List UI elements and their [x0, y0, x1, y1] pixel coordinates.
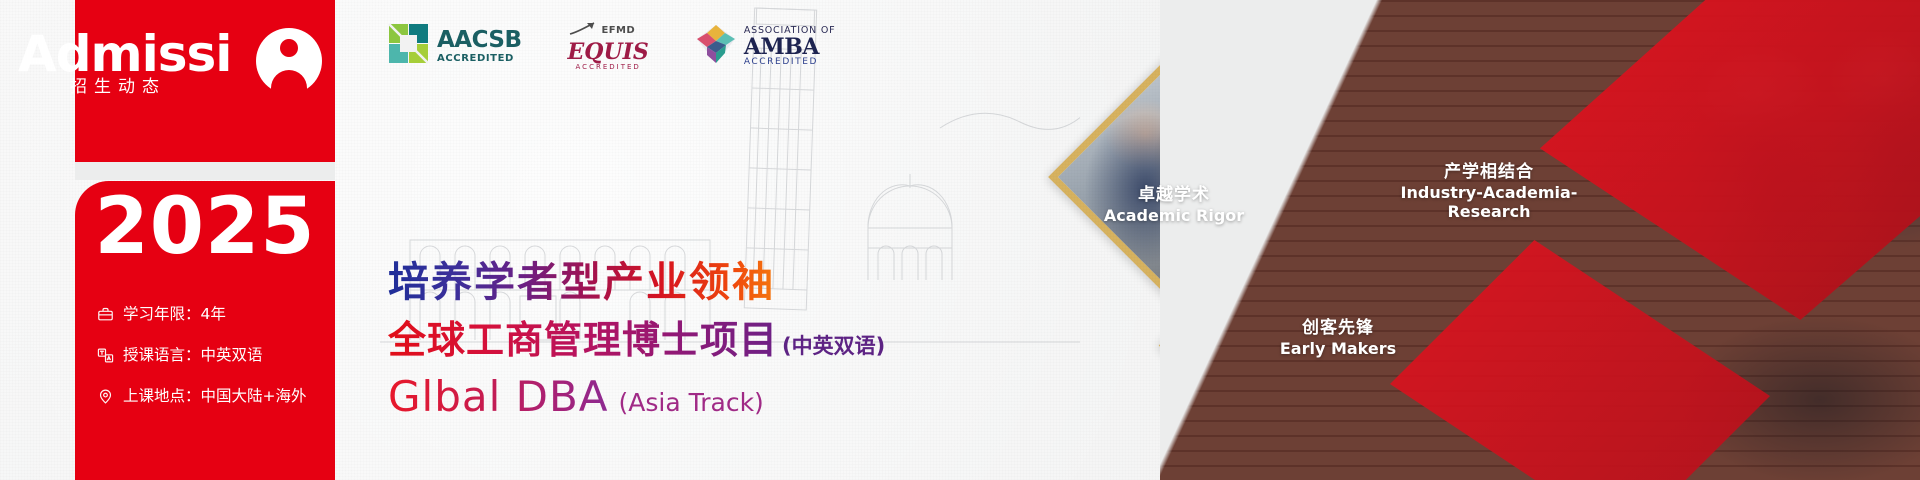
feature-label-academic: 卓越学术 Academic Rigor [1086, 185, 1262, 226]
feature-label-industry-cn: 产学相结合 [1374, 162, 1604, 182]
feature-label-academic-en: Academic Rigor [1086, 207, 1262, 226]
equis-sub: ACCREDITED [568, 64, 649, 71]
red-panel-bottom [75, 181, 335, 480]
headline-line-2-note: (中英双语) [782, 330, 885, 360]
equis-accreditation: EFMD EQUIS ACCREDITED [568, 22, 649, 71]
efmd-label: EFMD [602, 26, 636, 36]
aacsb-logo-icon [388, 23, 430, 70]
aacsb-accreditation: AACSB ACCREDITED [388, 23, 522, 70]
equis-swoosh-icon [568, 22, 598, 40]
feature-label-makers-en: Early Makers [1228, 340, 1448, 359]
amba-sub: ACCREDITED [744, 58, 836, 67]
headline-line-2: 全球工商管理博士项目 [388, 318, 778, 362]
equis-name: EQUIS [568, 41, 649, 63]
feature-label-industry-en: Industry-Academia-Research [1374, 184, 1604, 222]
person-head-shape [280, 39, 298, 57]
person-body-shape [271, 70, 307, 94]
person-in-circle-icon [256, 28, 322, 94]
amba-accreditation: ASSOCIATION OF AMBA ACCREDITED [695, 23, 836, 70]
admission-banner: Admissi 招生动态 2025 学习年限：4年 [0, 0, 1920, 480]
headline-line-1: 培养学者型产业领袖 [388, 258, 885, 306]
headline-line-3-note: (Asia Track) [619, 388, 764, 417]
headline-block: 培养学者型产业领袖 全球工商管理博士项目 (中英双语) Glbal DBA (A… [388, 258, 885, 421]
amba-name: AMBA [744, 36, 836, 58]
accreditation-logos: AACSB ACCREDITED EFMD EQUIS ACCREDITED [388, 22, 835, 71]
amba-diamond-icon [695, 23, 737, 70]
feature-label-academic-cn: 卓越学术 [1086, 185, 1262, 205]
admission-logo-subtitle: 招生动态 [70, 72, 166, 97]
feature-label-makers: 创客先锋 Early Makers [1228, 318, 1448, 359]
aacsb-name: AACSB [437, 29, 522, 52]
feature-label-makers-cn: 创客先锋 [1228, 318, 1448, 338]
headline-line-3: Glbal DBA [388, 372, 609, 421]
photo-collage [1160, 0, 1920, 480]
aacsb-sub: ACCREDITED [437, 54, 522, 64]
feature-label-industry: 产学相结合 Industry-Academia-Research [1374, 162, 1604, 222]
